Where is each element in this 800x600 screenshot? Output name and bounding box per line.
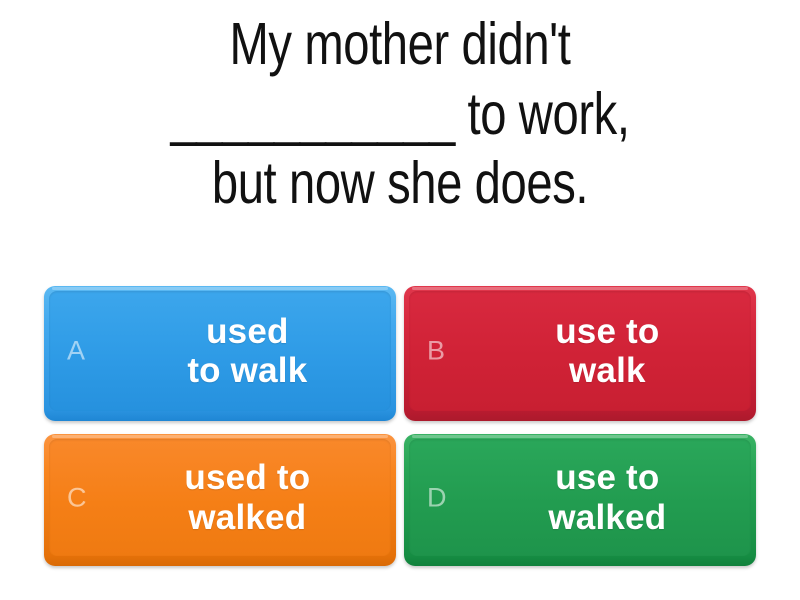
- answer-label-b: use to walk: [481, 312, 734, 390]
- answer-letter-d: D: [427, 484, 447, 511]
- answer-options-grid: A used to walk B use to walk C used to w…: [44, 286, 756, 566]
- answer-option-d[interactable]: D use to walked: [404, 434, 756, 566]
- question-area: My mother didn't ___________ to work, bu…: [0, 10, 800, 219]
- answer-option-a-face: A used to walk: [49, 291, 391, 411]
- answer-option-c[interactable]: C used to walked: [44, 434, 396, 566]
- answer-label-d: use to walked: [481, 458, 734, 536]
- answer-letter-a: A: [67, 338, 85, 365]
- quiz-stage: My mother didn't ___________ to work, bu…: [0, 0, 800, 600]
- answer-letter-c: C: [67, 484, 87, 511]
- answer-letter-b: B: [427, 338, 445, 365]
- answer-label-c: used to walked: [121, 458, 374, 536]
- answer-option-b-face: B use to walk: [409, 291, 751, 411]
- answer-option-b[interactable]: B use to walk: [404, 286, 756, 421]
- question-text: My mother didn't ___________ to work, bu…: [80, 10, 720, 219]
- answer-option-a[interactable]: A used to walk: [44, 286, 396, 421]
- answer-option-d-face: D use to walked: [409, 439, 751, 556]
- answer-label-a: used to walk: [121, 312, 374, 390]
- answer-option-c-face: C used to walked: [49, 439, 391, 556]
